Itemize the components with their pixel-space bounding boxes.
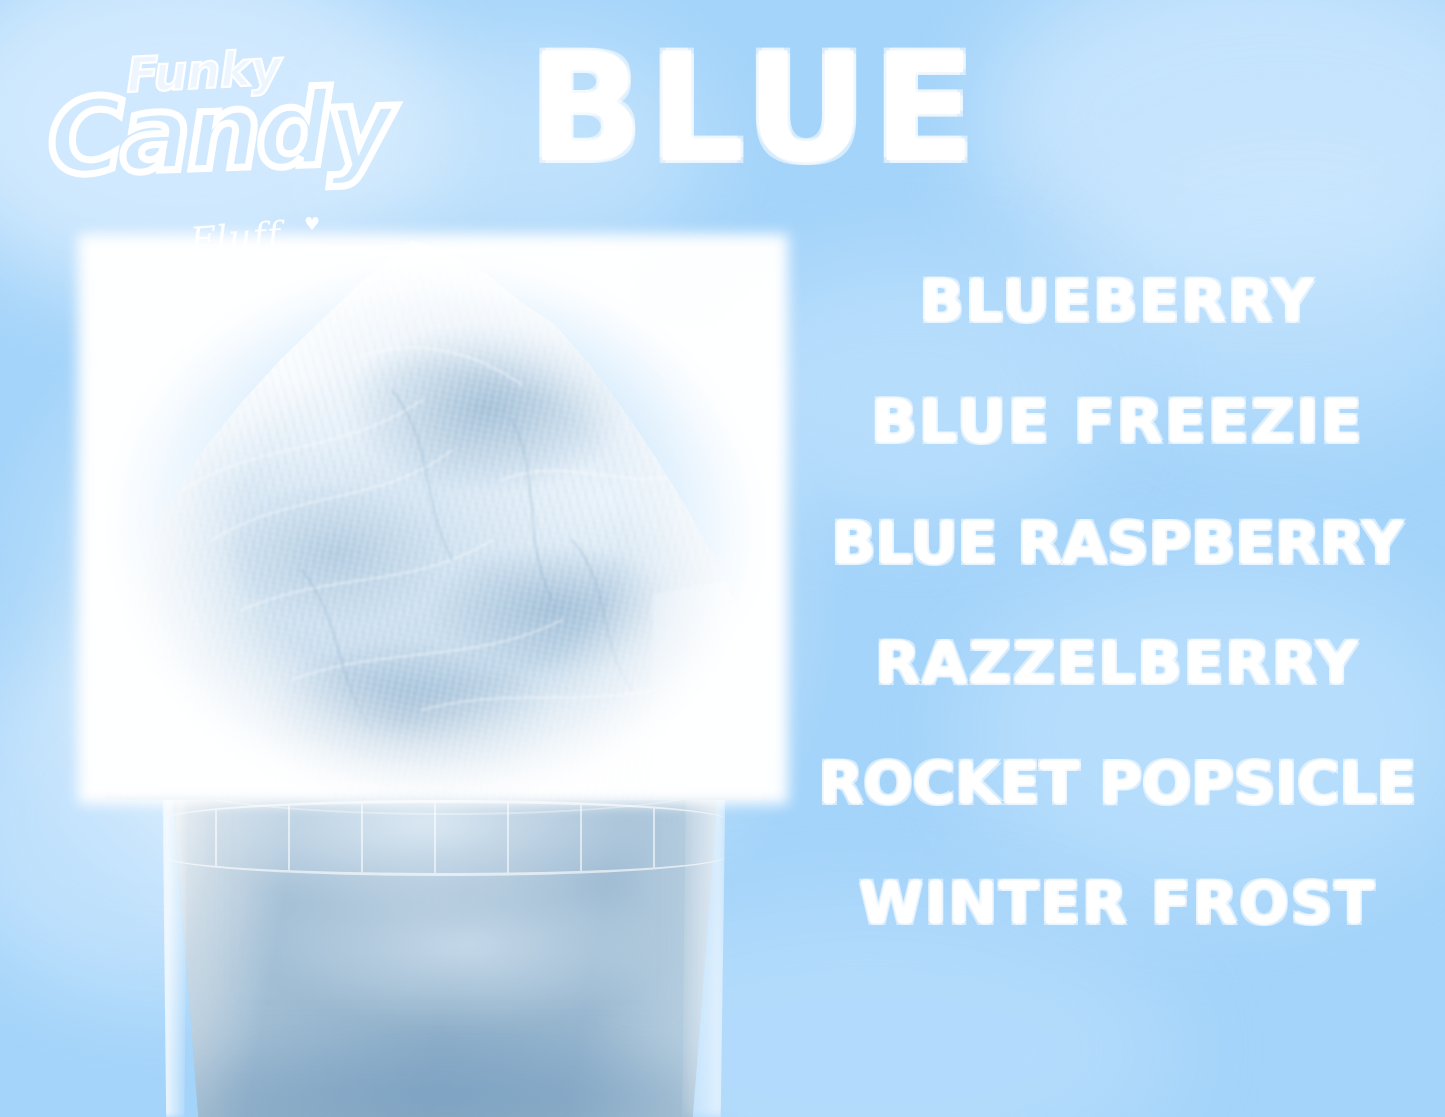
- flavor-list: BLUEBERRY BLUE FREEZIE BLUE RASPBERRY RA…: [790, 272, 1445, 932]
- page-title: BLUE: [520, 34, 990, 184]
- flavor-item: WINTER FROST: [790, 874, 1445, 932]
- logo-word-candy: Candy: [46, 74, 392, 190]
- tub-highlight-left: [162, 745, 188, 1117]
- flavor-item: ROCKET POPSICLE: [790, 754, 1445, 812]
- cotton-candy-ledge: [652, 570, 802, 810]
- logo-word-fluff: Fluff: [189, 215, 283, 262]
- brand-logo[interactable]: Funky Candy Fluff ♥: [42, 28, 342, 278]
- heart-icon: ♥: [304, 216, 320, 234]
- cotton-candy-dome: [92, 240, 772, 800]
- flavor-item: BLUE RASPBERRY: [790, 514, 1445, 572]
- flavor-item: BLUEBERRY: [790, 272, 1445, 330]
- poster-canvas: Funky Candy Fluff ♥ BLUE BLUEBERRY BLUE …: [0, 0, 1445, 1117]
- flavor-item: BLUE FREEZIE: [790, 392, 1445, 452]
- flavor-item: RAZZELBERRY: [790, 634, 1445, 692]
- tub-highlight-right: [682, 745, 726, 1117]
- product-image: [70, 240, 810, 1117]
